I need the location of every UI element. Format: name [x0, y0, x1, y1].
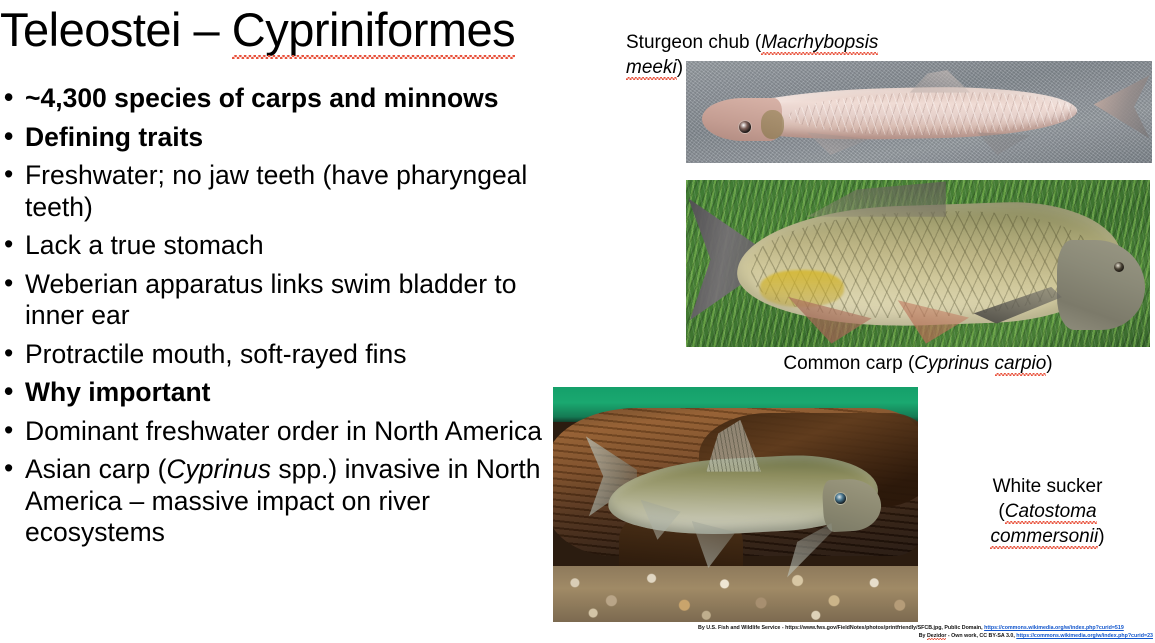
attribution-text: By U.S. Fish and Wildlife Service - http…	[698, 625, 984, 631]
fish-anal-fin	[975, 132, 1031, 154]
list-item: Why important	[0, 377, 556, 409]
fish-gill-cover	[761, 110, 784, 139]
bullet-text: Freshwater; no jaw teeth (have pharyngea…	[25, 160, 527, 222]
attribution-link[interactable]: https://commons.wikimedia.org/w/index.ph…	[984, 625, 1124, 631]
caption-common-carp: Common carp (Cyprinus carpio)	[686, 351, 1150, 376]
caption-species: carpio	[995, 351, 1047, 376]
attribution-line-2: By Dezidor - Own work, CC BY-SA 3.0, htt…	[698, 632, 1153, 640]
photo-sturgeon-chub	[686, 61, 1152, 163]
attribution-license: - Own work, CC BY-SA 3.0,	[946, 633, 1016, 639]
list-item: Protractile mouth, soft-rayed fins	[0, 339, 556, 371]
list-item: Defining traits	[0, 122, 556, 154]
caption-common-name: Common carp (	[783, 353, 914, 374]
bullet-text: Why important	[25, 377, 211, 407]
caption-close-paren: )	[677, 57, 683, 78]
fish-dorsal-fin	[807, 180, 946, 217]
list-item: Weberian apparatus links swim bladder to…	[0, 269, 556, 332]
bullet-text: ~4,300 species of carps and minnows	[25, 83, 499, 113]
photo-white-sucker	[553, 387, 918, 622]
photo-common-carp	[686, 180, 1150, 347]
caption-white-sucker: White sucker (Catostoma commersonii)	[940, 474, 1155, 549]
bullet-text: Dominant freshwater order in North Ameri…	[25, 416, 542, 446]
caption-species: commersonii	[990, 524, 1098, 549]
attribution-link[interactable]: https://commons.wikimedia.org/w/index.ph…	[1016, 633, 1153, 639]
page-title: Teleostei – Cypriniformes	[0, 2, 600, 58]
caption-close-paren: )	[1098, 526, 1104, 547]
caption-close-paren: )	[1046, 353, 1052, 374]
caption-genus: Catostoma	[1005, 499, 1097, 524]
title-misspelled-word: Cypriniformes	[232, 2, 515, 58]
list-item: ~4,300 species of carps and minnows	[0, 83, 556, 115]
list-item: Lack a true stomach	[0, 230, 556, 262]
bullet-text: Lack a true stomach	[25, 230, 264, 260]
attribution-author: Dezidor	[927, 632, 946, 640]
slide-canvas: Teleostei – Cypriniformes ~4,300 species…	[0, 0, 1155, 643]
caption-genus: Macrhybopsis	[761, 30, 878, 55]
list-item-asian-carp: Asian carp (Cyprinus spp.) invasive in N…	[0, 454, 556, 549]
fish-caudal-fin	[1094, 75, 1150, 138]
aquarium-gravel	[553, 566, 918, 622]
attribution-line-1: By U.S. Fish and Wildlife Service - http…	[698, 624, 1153, 632]
fish-head	[1057, 240, 1145, 330]
fish-eye	[834, 492, 847, 505]
image-attribution: By U.S. Fish and Wildlife Service - http…	[698, 624, 1153, 641]
bullet-text: Protractile mouth, soft-rayed fins	[25, 339, 406, 369]
caption-species: meeki	[626, 55, 677, 80]
caption-common-name: White sucker	[993, 476, 1103, 497]
list-item: Dominant freshwater order in North Ameri…	[0, 416, 556, 448]
list-item: Freshwater; no jaw teeth (have pharyngea…	[0, 160, 556, 223]
bullet-text: Weberian apparatus links swim bladder to…	[25, 269, 516, 331]
fish-dorsal-fin	[910, 70, 971, 92]
caption-common-name: Sturgeon chub (	[626, 32, 761, 53]
caption-genus: Cyprinus	[914, 353, 989, 374]
bullet-text: Asian carp (Cyprinus spp.) invasive in N…	[25, 454, 541, 547]
title-plain-part: Teleostei –	[0, 3, 232, 56]
attribution-text: By	[919, 633, 927, 639]
bullet-list: ~4,300 species of carps and minnows Defi…	[0, 83, 556, 556]
bullet-text: Defining traits	[25, 122, 203, 152]
